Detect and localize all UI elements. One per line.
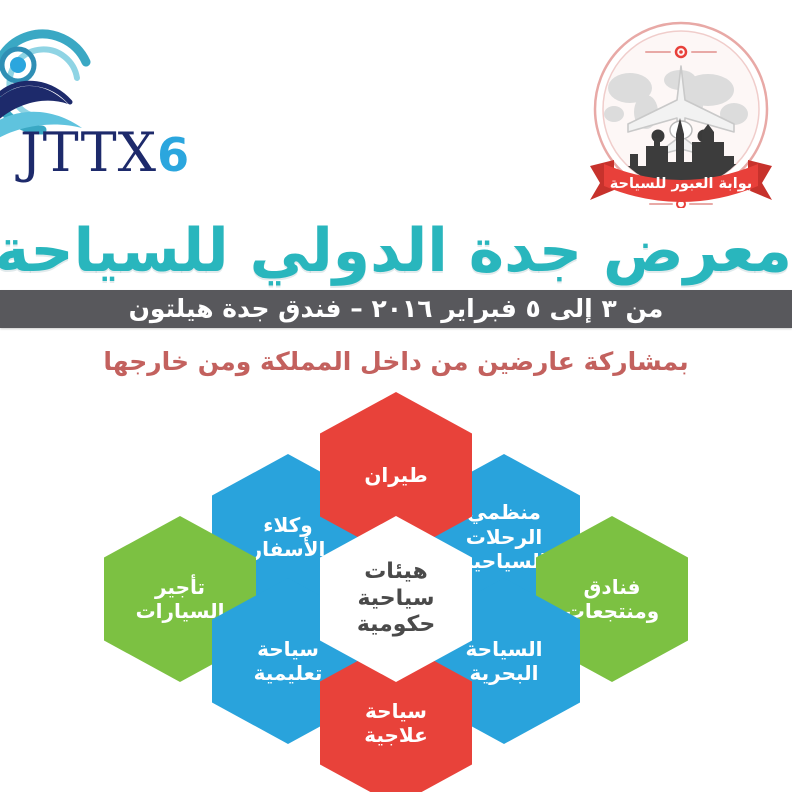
hex-label: سياحة تعليمية [240, 637, 337, 686]
brand-logo: JTTX6 [0, 18, 232, 188]
poster-canvas: JTTX6 [0, 0, 792, 792]
event-subheadline-text: بمشاركة عارضين من داخل المملكة ومن خارجه… [103, 347, 688, 376]
event-headline-text: معرض جدة الدولي للسياحة والسفر [0, 212, 792, 290]
event-subheadline: بمشاركة عارضين من داخل المملكة ومن خارجه… [0, 340, 792, 384]
brand-wordmark-main: JTTX [20, 121, 157, 184]
event-date-venue-bar: من ٣ إلى ٥ فبراير ٢٠١٦ – فندق جدة هيلتون [0, 290, 792, 328]
hex-label: طيران [350, 463, 441, 487]
event-headline: معرض جدة الدولي للسياحة والسفر [0, 212, 792, 290]
brand-wordmark: JTTX6 [20, 126, 190, 180]
sector-hexagon-cluster: وكلاء الأسفار منظمي الرحلات السياحية تأج… [0, 392, 792, 764]
hex-label: هيئات سياحية حكومية [343, 559, 449, 638]
hex-label: وكلاء الأسفار [237, 513, 340, 562]
event-date-venue-text: من ٣ إلى ٥ فبراير ٢٠١٦ – فندق جدة هيلتون [129, 290, 664, 328]
badge-ribbon-text: بوابة العبور للسياحة [610, 176, 753, 192]
travel-gateway-badge: بوابة العبور للسياحة [584, 14, 778, 208]
hex-label: سياحة علاجية [350, 699, 442, 748]
hex-label: السياحة البحرية [452, 637, 557, 686]
brand-wordmark-suffix: 6 [157, 128, 190, 182]
